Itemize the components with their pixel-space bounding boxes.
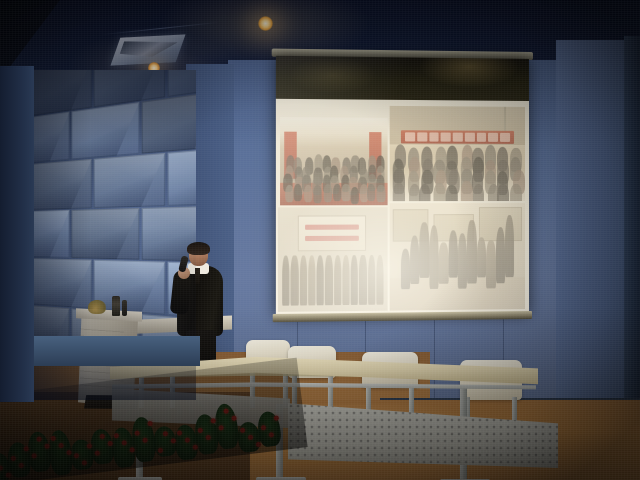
crowd-figure (333, 184, 342, 202)
lineup-figure (325, 255, 333, 305)
crowd-figure (419, 184, 431, 201)
crowd-figure (342, 184, 351, 202)
table-perforated-panel (288, 396, 558, 468)
crowd-figure (473, 184, 484, 201)
screen-dark-band (276, 56, 529, 105)
slide-photo-top-right (390, 106, 525, 201)
ceiling-vent-icon (110, 34, 185, 65)
lineup-figure (308, 255, 316, 305)
lineup-figure (334, 255, 342, 305)
group-figure (458, 233, 467, 289)
group-figure (439, 243, 448, 284)
screen-surface (276, 56, 529, 318)
slide-photo-bottom-left (278, 207, 388, 312)
group-figure (496, 227, 505, 282)
crowd-figure (285, 185, 294, 203)
group-figure (467, 220, 476, 283)
auditorium-photo: Auditorium presentation — speaker with m… (0, 0, 640, 480)
right-wall-edge (624, 36, 640, 436)
group-figure (505, 215, 514, 278)
projected-slide (276, 99, 529, 318)
crowd-figures (390, 106, 525, 201)
lineup-figure (282, 255, 290, 305)
lineup-figure (351, 255, 359, 305)
crowd-figure (313, 185, 322, 203)
crowd-figure (393, 183, 405, 202)
screen-weight-bar (273, 311, 532, 322)
slide-photo-bottom-right (390, 203, 525, 311)
group-figure (429, 226, 439, 289)
crowd-figure (294, 184, 303, 202)
indoor-stage-photo (280, 117, 388, 205)
crowd-figure (497, 184, 508, 201)
lineup-figure (342, 255, 350, 305)
group-figure (420, 222, 430, 278)
group-figure (410, 235, 420, 283)
crowd-figure (351, 187, 360, 204)
outdoor-banner-photo (390, 106, 525, 201)
outdoor-apartment-photo (390, 203, 525, 311)
projection-screen (276, 56, 529, 325)
left-wall-base (24, 336, 200, 366)
crowd-figure (446, 185, 458, 201)
slide-photo-top-left (280, 117, 388, 205)
crowd-figure (461, 181, 472, 201)
lineup-figure (291, 255, 299, 305)
lineup-figure (359, 255, 367, 305)
group-figure (486, 240, 495, 288)
lineup-figure (376, 255, 383, 305)
group-figure (477, 237, 486, 278)
ceiling-spotlight-right-icon (258, 16, 273, 31)
lineup-figure (299, 255, 307, 305)
lineup-figures (280, 255, 385, 306)
group-figure (401, 248, 411, 289)
crowd-figure (367, 183, 376, 200)
lineup-photo (278, 207, 388, 312)
left-wall-dark-edge (0, 66, 34, 402)
crowd-figure (304, 185, 313, 203)
crowd-figure (377, 185, 386, 202)
group-figure (448, 230, 457, 278)
crowd-figures (280, 117, 388, 205)
crowd-figure (434, 183, 446, 201)
lineup-figure (317, 255, 325, 305)
photo-inner-screen (298, 216, 366, 252)
crowd-figure (510, 184, 521, 201)
lineup-figure (368, 255, 376, 305)
crowd-figure (323, 184, 332, 202)
